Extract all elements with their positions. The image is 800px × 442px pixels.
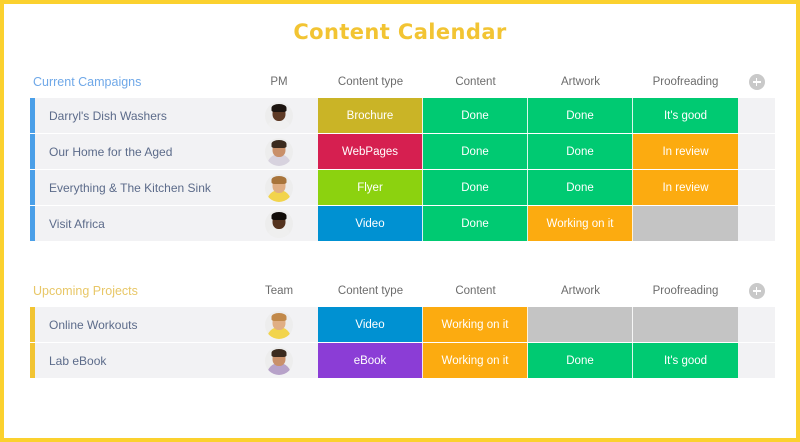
row-name[interactable]: Lab eBook xyxy=(35,343,240,378)
cell-artwork[interactable]: Done xyxy=(528,170,633,205)
cell-proofreading[interactable] xyxy=(633,206,738,241)
cell-artwork[interactable]: Done xyxy=(528,343,633,378)
add-column-cell-current[interactable] xyxy=(738,74,775,90)
avatar-hair xyxy=(272,140,287,148)
cell-proofreading[interactable]: In review xyxy=(633,170,738,205)
cell-proofreading[interactable]: It's good xyxy=(633,343,738,378)
avatar-person-2[interactable] xyxy=(265,138,293,166)
cell-proofreading[interactable] xyxy=(633,307,738,342)
column-header-pm[interactable]: PM xyxy=(240,76,318,88)
plus-circle-icon[interactable] xyxy=(749,283,765,299)
avatar-hair xyxy=(272,349,287,357)
row-name[interactable]: Visit Africa xyxy=(35,206,240,241)
cell-content-type[interactable]: Brochure xyxy=(318,98,423,133)
cell-content-type[interactable]: Video xyxy=(318,307,423,342)
avatar-person-1[interactable] xyxy=(265,102,293,130)
avatar-person-5[interactable] xyxy=(265,311,293,339)
column-header-content-type-2[interactable]: Content type xyxy=(318,285,423,297)
content-calendar-board: Content Calendar Current Campaigns PM Co… xyxy=(0,0,800,442)
row-trailing-cell[interactable] xyxy=(738,307,775,342)
section-current-campaigns: Current Campaigns PM Content type Conten… xyxy=(30,70,770,241)
table-row[interactable]: Lab eBookeBookWorking on itDoneIt's good xyxy=(30,343,770,378)
section-title-upcoming-projects[interactable]: Upcoming Projects xyxy=(30,284,240,298)
row-avatar-cell[interactable] xyxy=(240,134,318,169)
section-header-row-current: Current Campaigns PM Content type Conten… xyxy=(30,70,770,94)
avatar-hair xyxy=(272,104,287,112)
rows-current-campaigns: Darryl's Dish WashersBrochureDoneDoneIt'… xyxy=(30,98,770,241)
column-header-proofreading[interactable]: Proofreading xyxy=(633,76,738,88)
cell-content[interactable]: Working on it xyxy=(423,343,528,378)
column-header-proofreading-2[interactable]: Proofreading xyxy=(633,285,738,297)
table-row[interactable]: Online WorkoutsVideoWorking on it xyxy=(30,307,770,342)
column-header-team[interactable]: Team xyxy=(240,285,318,297)
column-header-content-type[interactable]: Content type xyxy=(318,76,423,88)
table-row[interactable]: Everything & The Kitchen SinkFlyerDoneDo… xyxy=(30,170,770,205)
row-trailing-cell[interactable] xyxy=(738,98,775,133)
cell-content-type[interactable]: Video xyxy=(318,206,423,241)
cell-content[interactable]: Done xyxy=(423,134,528,169)
column-header-content[interactable]: Content xyxy=(423,76,528,88)
avatar-hair xyxy=(272,212,287,220)
cell-artwork[interactable]: Done xyxy=(528,98,633,133)
cell-content[interactable]: Done xyxy=(423,170,528,205)
rows-upcoming-projects: Online WorkoutsVideoWorking on itLab eBo… xyxy=(30,307,770,378)
row-trailing-cell[interactable] xyxy=(738,206,775,241)
cell-artwork[interactable]: Done xyxy=(528,134,633,169)
table-row[interactable]: Visit AfricaVideoDoneWorking on it xyxy=(30,206,770,241)
column-header-artwork[interactable]: Artwork xyxy=(528,76,633,88)
cell-content[interactable]: Done xyxy=(423,98,528,133)
cell-artwork[interactable] xyxy=(528,307,633,342)
row-name[interactable]: Online Workouts xyxy=(35,307,240,342)
cell-content[interactable]: Working on it xyxy=(423,307,528,342)
row-trailing-cell[interactable] xyxy=(738,170,775,205)
cell-artwork[interactable]: Working on it xyxy=(528,206,633,241)
row-avatar-cell[interactable] xyxy=(240,307,318,342)
cell-content-type[interactable]: eBook xyxy=(318,343,423,378)
section-title-current-campaigns[interactable]: Current Campaigns xyxy=(30,75,240,89)
column-header-artwork-2[interactable]: Artwork xyxy=(528,285,633,297)
cell-proofreading[interactable]: In review xyxy=(633,134,738,169)
table-row[interactable]: Darryl's Dish WashersBrochureDoneDoneIt'… xyxy=(30,98,770,133)
avatar-person-3[interactable] xyxy=(265,174,293,202)
row-name[interactable]: Our Home for the Aged xyxy=(35,134,240,169)
row-avatar-cell[interactable] xyxy=(240,170,318,205)
avatar-person-6[interactable] xyxy=(265,347,293,375)
column-header-content-2[interactable]: Content xyxy=(423,285,528,297)
page-title: Content Calendar xyxy=(4,20,796,44)
row-name[interactable]: Everything & The Kitchen Sink xyxy=(35,170,240,205)
avatar-hair xyxy=(272,176,287,184)
row-trailing-cell[interactable] xyxy=(738,134,775,169)
row-avatar-cell[interactable] xyxy=(240,98,318,133)
row-name[interactable]: Darryl's Dish Washers xyxy=(35,98,240,133)
board-body: Current Campaigns PM Content type Conten… xyxy=(4,70,796,378)
add-column-cell-upcoming[interactable] xyxy=(738,283,775,299)
plus-circle-icon[interactable] xyxy=(749,74,765,90)
row-trailing-cell[interactable] xyxy=(738,343,775,378)
section-header-row-upcoming: Upcoming Projects Team Content type Cont… xyxy=(30,279,770,303)
row-avatar-cell[interactable] xyxy=(240,206,318,241)
avatar-hair xyxy=(272,313,287,321)
cell-content-type[interactable]: WebPages xyxy=(318,134,423,169)
cell-content[interactable]: Done xyxy=(423,206,528,241)
cell-content-type[interactable]: Flyer xyxy=(318,170,423,205)
section-upcoming-projects: Upcoming Projects Team Content type Cont… xyxy=(30,279,770,378)
row-avatar-cell[interactable] xyxy=(240,343,318,378)
table-row[interactable]: Our Home for the AgedWebPagesDoneDoneIn … xyxy=(30,134,770,169)
cell-proofreading[interactable]: It's good xyxy=(633,98,738,133)
avatar-person-4[interactable] xyxy=(265,210,293,238)
